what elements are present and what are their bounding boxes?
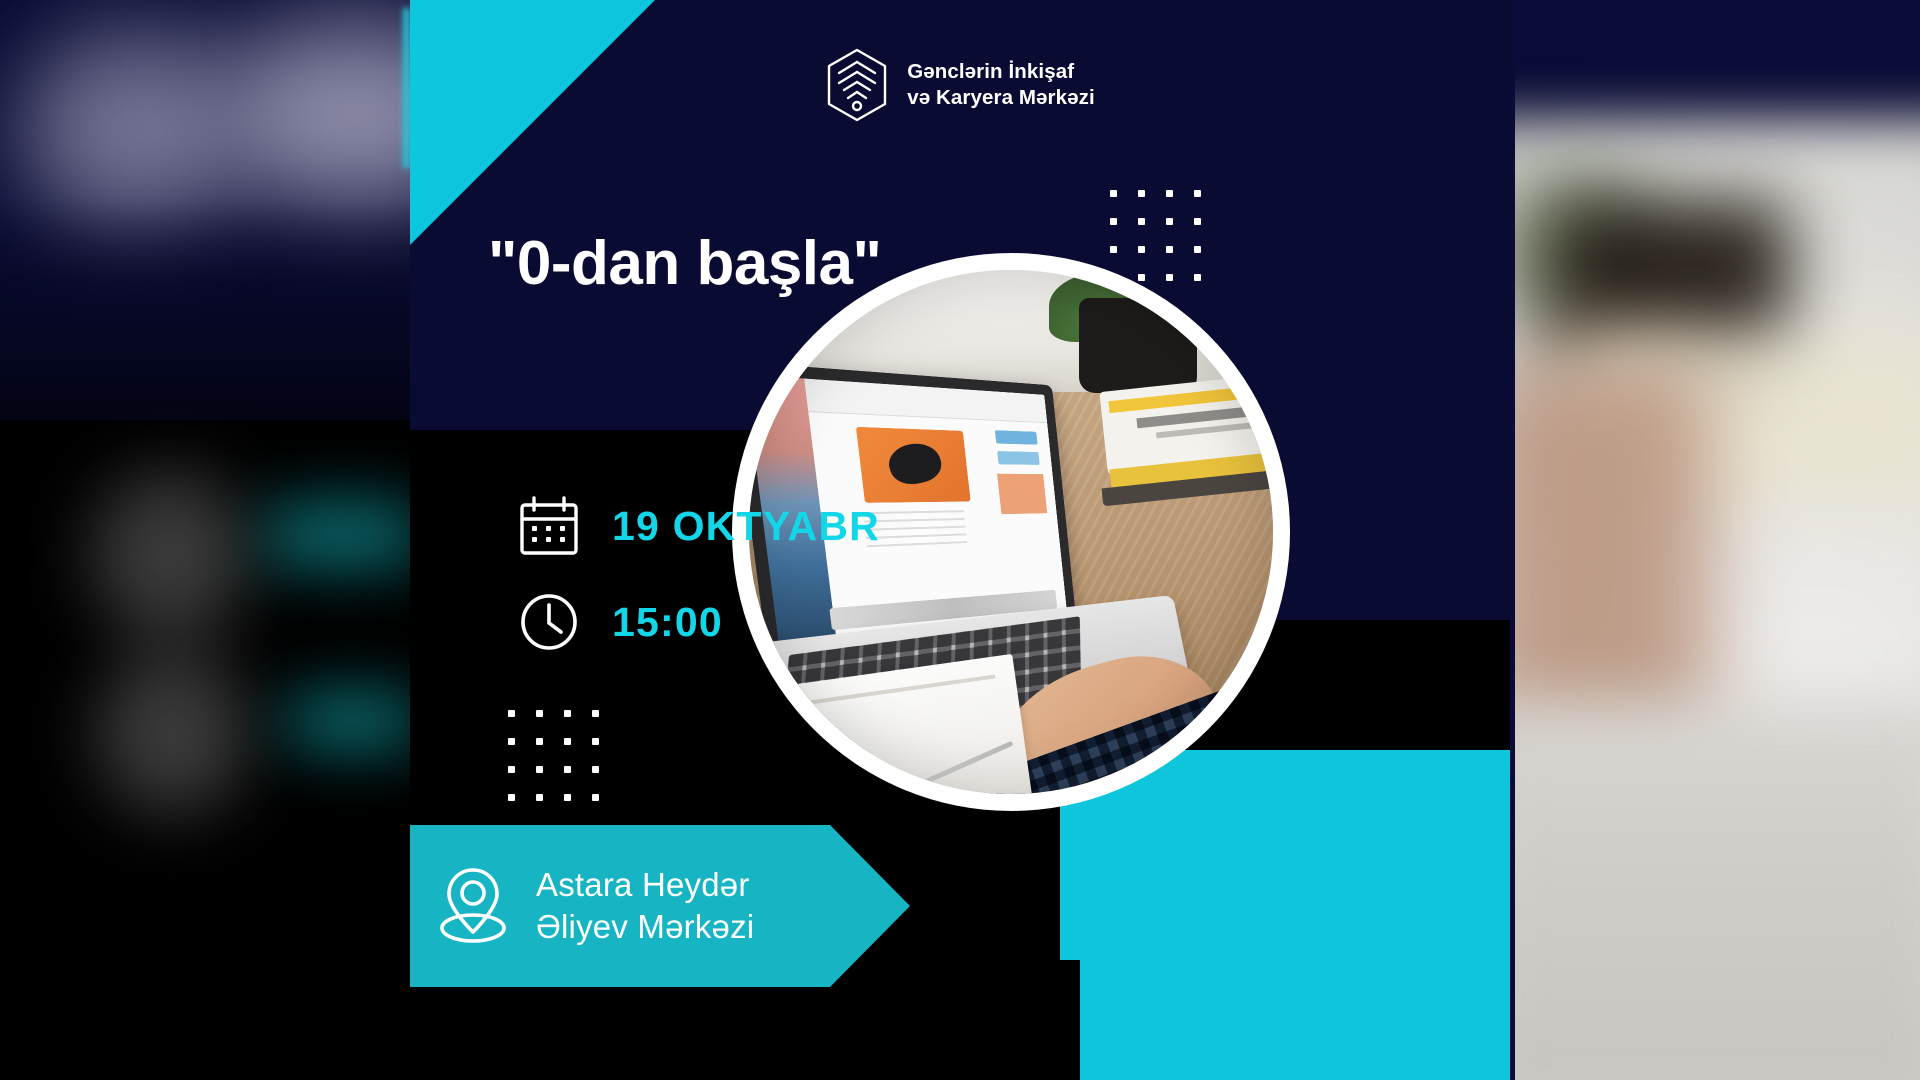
event-time-label: 15:00 xyxy=(612,599,723,646)
backdrop-left-cyan-edge xyxy=(403,8,410,168)
backdrop-right-bottom xyxy=(1510,700,1920,1080)
backdrop-left-teal-bar-2 xyxy=(288,690,410,752)
dot xyxy=(1194,274,1201,281)
dot xyxy=(1194,246,1201,253)
backdrop-left-gray-blob-2 xyxy=(95,650,250,815)
event-poster: Gənclərin İnkişaf və Karyera Mərkəzi "0-… xyxy=(410,0,1510,1080)
dot xyxy=(536,766,543,773)
dot xyxy=(1166,274,1173,281)
location-text: Astara Heydər Əliyev Mərkəzi xyxy=(536,864,754,948)
calendar-icon xyxy=(518,495,580,557)
location-banner: Astara Heydər Əliyev Mərkəzi xyxy=(410,825,910,987)
dot xyxy=(536,710,543,717)
event-time-row: 15:00 xyxy=(518,591,880,653)
dot xyxy=(1166,218,1173,225)
backdrop-left-teal-bar-1 xyxy=(268,500,410,570)
dot xyxy=(508,766,515,773)
backdrop-left-gray-blob-1 xyxy=(90,470,250,640)
screen-right-block-1 xyxy=(995,430,1037,445)
dot xyxy=(1110,246,1117,253)
screen-toolbar xyxy=(805,379,1048,424)
poster-header: Gənclərin İnkişaf və Karyera Mərkəzi xyxy=(410,48,1510,122)
dot xyxy=(536,738,543,745)
dot xyxy=(1138,246,1145,253)
dot xyxy=(536,794,543,801)
cyan-bottom-block xyxy=(1060,750,1510,1080)
event-date-label: 19 OKTYABR xyxy=(612,503,880,550)
clock-icon xyxy=(518,591,580,653)
dot xyxy=(1194,218,1201,225)
screen-right-block-3 xyxy=(997,473,1047,514)
dot xyxy=(508,794,515,801)
dot xyxy=(1110,218,1117,225)
dot-grid-decoration-lower xyxy=(508,710,599,801)
logo-text: Gənclərin İnkişaf və Karyera Mərkəzi xyxy=(907,59,1095,110)
dot-grid-decoration-top xyxy=(1110,190,1201,281)
dot xyxy=(1110,274,1117,281)
dot xyxy=(1194,190,1201,197)
dot xyxy=(1138,190,1145,197)
dot xyxy=(564,794,571,801)
dot xyxy=(1166,190,1173,197)
backdrop-right xyxy=(1510,0,1920,1080)
dot xyxy=(564,738,571,745)
screen-right-block-2 xyxy=(997,451,1039,465)
dot xyxy=(1138,274,1145,281)
backdrop-left xyxy=(0,0,410,1080)
dot xyxy=(1166,246,1173,253)
dot xyxy=(564,710,571,717)
map-pin-icon xyxy=(432,862,514,950)
dot xyxy=(592,766,599,773)
poster-stage: Gənclərin İnkişaf və Karyera Mərkəzi "0-… xyxy=(0,0,1920,1080)
hexagon-chevron-logo-icon xyxy=(825,48,889,122)
dot xyxy=(1110,190,1117,197)
dot xyxy=(592,710,599,717)
dot xyxy=(592,794,599,801)
event-details: 19 OKTYABR 15:00 xyxy=(518,495,880,687)
dot xyxy=(508,710,515,717)
backdrop-right-edge xyxy=(1510,0,1515,1080)
dot xyxy=(564,766,571,773)
page-title: "0-dan başla" xyxy=(488,228,881,299)
dot xyxy=(592,738,599,745)
event-date-row: 19 OKTYABR xyxy=(518,495,880,557)
dot xyxy=(508,738,515,745)
dot xyxy=(1138,218,1145,225)
